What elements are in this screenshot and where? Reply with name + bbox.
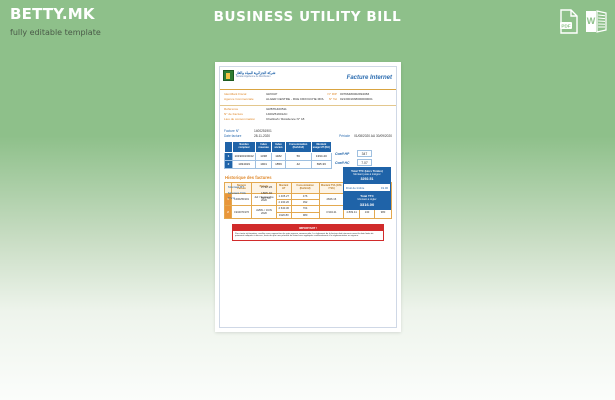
period-label: Période bbox=[339, 134, 350, 138]
grand-total-value: 3316.00 bbox=[345, 202, 389, 207]
top-banner: BETTY.MK fully editable template BUSINES… bbox=[0, 0, 615, 52]
cell-meter: 1019001/0042 bbox=[233, 152, 256, 160]
logo-french-text: Société Algérienne de Distribution bbox=[236, 76, 275, 78]
company-logo: شركة الجزائرية للمياه والغاز Société Alg… bbox=[223, 70, 275, 81]
coefficient-block: Coeff HP 347 Coeff HC 7.07 bbox=[335, 141, 372, 169]
coefficient-value: 7.07 bbox=[357, 159, 372, 166]
amount-summary-block: Montant HT 2792.26 Montant TVA 1805.40 T… bbox=[228, 185, 288, 202]
row-index: 2 bbox=[225, 206, 232, 219]
table-row: 2 1034019 1901 1859 42 695.36 bbox=[225, 160, 332, 168]
row-index: 2 bbox=[225, 160, 233, 168]
cell-index-old: 1182 bbox=[272, 152, 286, 160]
table-header-row: Nombre compteur Index nouveau Index anci… bbox=[225, 142, 332, 153]
summary-value: 2792.26 bbox=[261, 185, 272, 189]
total-before-stamp: Total TTC (Hors Timbre) Montant juste à … bbox=[344, 168, 390, 183]
word-format-icon[interactable]: W bbox=[585, 9, 605, 34]
pdf-format-icon[interactable]: PDF bbox=[559, 9, 579, 34]
period-value: 01/08/2020 AU 30/09/2020 bbox=[354, 134, 392, 138]
cell-period: AVRIL / JUIN 2020 bbox=[252, 206, 277, 219]
cell-amount-ht: 695.36 bbox=[311, 160, 331, 168]
info-row: Agence Commerciale ALGER CENTRE - RUE DI… bbox=[224, 98, 392, 102]
cell-index-new: 1901 bbox=[256, 160, 272, 168]
invoice-date-row: Date facture 28-11-2020 Période 01/08/20… bbox=[224, 134, 392, 138]
info-label: Lieu de consommation bbox=[224, 118, 266, 122]
col-amount-tva: Montant TVA (19% / TVA) bbox=[319, 182, 344, 193]
invoice-date-value: 28-11-2020 bbox=[254, 134, 270, 138]
info-value: GROUP bbox=[266, 93, 324, 97]
col-index bbox=[225, 142, 233, 153]
cell-invoice-number: 1934071976 bbox=[232, 206, 252, 219]
cell-amount-ht: 1926.80 bbox=[276, 212, 291, 218]
total-before-stamp-sublabel: Montant juste à intégrer bbox=[345, 173, 389, 176]
col-index-old: Index ancien bbox=[272, 142, 286, 153]
invoice-number-label: Facture N° bbox=[224, 129, 254, 133]
grand-total: Total TTC Montant à régler 3316.00 bbox=[344, 192, 390, 209]
cell-consumption: 56 bbox=[285, 152, 311, 160]
coefficient-row: Coeff HP 347 bbox=[335, 150, 372, 157]
invoice-number-value: 1400251901 bbox=[254, 129, 272, 133]
col-consumption: Consommation (Kwh/m3) bbox=[291, 182, 319, 193]
cell-consumption: 42 bbox=[285, 160, 311, 168]
invoice-body: شركة الجزائرية للمياه والغاز Société Alg… bbox=[219, 66, 397, 328]
row-index: 1 bbox=[225, 152, 233, 160]
coefficient-label: Coeff HC bbox=[335, 161, 355, 165]
info-row: Lieu de consommation Chebbah / Résidence… bbox=[224, 118, 392, 122]
logo-mark-icon bbox=[223, 70, 234, 81]
summary-value: 1805.40 bbox=[261, 191, 272, 195]
coefficient-value: 347 bbox=[357, 150, 372, 157]
summary-row: T.V.A. 597.53 bbox=[228, 196, 288, 200]
stamp-duty-label: Droit de timbre bbox=[346, 186, 364, 190]
document-page[interactable]: شركة الجزائرية للمياه والغاز Société Alg… bbox=[215, 62, 401, 332]
summary-label: Montant HT bbox=[228, 185, 261, 189]
stamp-duty-value: 19.00 bbox=[381, 186, 388, 190]
col-amount-ht: Montant usage HT (DA) bbox=[311, 142, 331, 153]
screenshot-root: BETTY.MK fully editable template BUSINES… bbox=[0, 0, 615, 400]
info-label-2: N° Tel bbox=[324, 98, 337, 102]
col-meter: Nombre compteur bbox=[233, 142, 256, 153]
invoice-date-label: Date facture bbox=[224, 134, 254, 138]
info-value: ALGER CENTRE - RUE DIDOUCHE MOURAD bbox=[266, 98, 324, 102]
period-block: Facture N° 1400251901 Date facture 28-11… bbox=[220, 126, 396, 140]
svg-text:W: W bbox=[587, 16, 596, 26]
cell-consumption: 980 bbox=[291, 212, 319, 218]
format-icons: PDF W bbox=[559, 9, 605, 34]
info-value-2: 0213001938000000001 bbox=[337, 98, 392, 102]
notice-box: IMPORTANT ! Pour toute réclamation, veui… bbox=[232, 224, 384, 241]
page-title: BUSINESS UTILITY BILL bbox=[0, 9, 615, 25]
customer-info-block: Identifiant Fiscal GROUP N° RIP 00766480… bbox=[220, 90, 396, 106]
coefficient-label: Coeff HP bbox=[335, 152, 355, 156]
totals-panel: Total TTC (Hors Timbre) Montant juste à … bbox=[343, 167, 391, 210]
info-value: GRBH1400511 bbox=[266, 108, 392, 112]
cell-index-new: 1338 bbox=[256, 152, 272, 160]
document-type-label: Facture Internet bbox=[347, 75, 392, 81]
summary-row: Montant HT 2792.26 bbox=[228, 185, 288, 189]
info-label: Agence Commerciale bbox=[224, 98, 266, 102]
svg-text:PDF: PDF bbox=[561, 24, 570, 29]
notice-body: Pour toute réclamation, veuillez vous ra… bbox=[233, 231, 383, 240]
brand-subtitle: fully editable template bbox=[10, 29, 101, 37]
invoice-number-row: Facture N° 1400251901 bbox=[224, 129, 392, 133]
summary-value: 597.53 bbox=[261, 196, 270, 200]
col-consumption: Consommation (Kwh/m3) bbox=[285, 142, 311, 153]
reference-info-block: Référence GRBH1400511 N° de Facture 1400… bbox=[220, 106, 396, 126]
total-before-stamp-value: 3292.51 bbox=[345, 177, 389, 181]
col-index-new: Index nouveau bbox=[256, 142, 272, 153]
table-row: 1 1019001/0042 1338 1182 56 1394.40 bbox=[225, 152, 332, 160]
cell-meter: 1034019 bbox=[233, 160, 256, 168]
summary-label: T.V.A. bbox=[228, 196, 261, 200]
consumption-table: Nombre compteur Index nouveau Index anci… bbox=[224, 141, 332, 169]
stamp-duty-row: Droit de timbre 19.00 bbox=[344, 183, 390, 192]
coefficient-row: Coeff HC 7.07 bbox=[335, 159, 372, 166]
summary-row: Montant TVA 1805.40 bbox=[228, 191, 288, 195]
invoice-header: شركة الجزائرية للمياه والغاز Société Alg… bbox=[220, 67, 396, 90]
info-value: Chebbah / Résidence N° 18 bbox=[266, 118, 392, 122]
cell-amount-tva: 3 904.21 bbox=[319, 206, 344, 219]
info-row: Référence GRBH1400511 bbox=[224, 108, 392, 112]
summary-label: Montant TVA bbox=[228, 191, 261, 195]
cell-amount-tva: 2846.16 bbox=[319, 193, 344, 206]
info-value: 1400251901AC bbox=[266, 113, 392, 117]
consumption-section: Nombre compteur Index nouveau Index anci… bbox=[220, 140, 396, 169]
cell-amount-ht: 1394.40 bbox=[311, 152, 331, 160]
cell-index-old: 1859 bbox=[272, 160, 286, 168]
